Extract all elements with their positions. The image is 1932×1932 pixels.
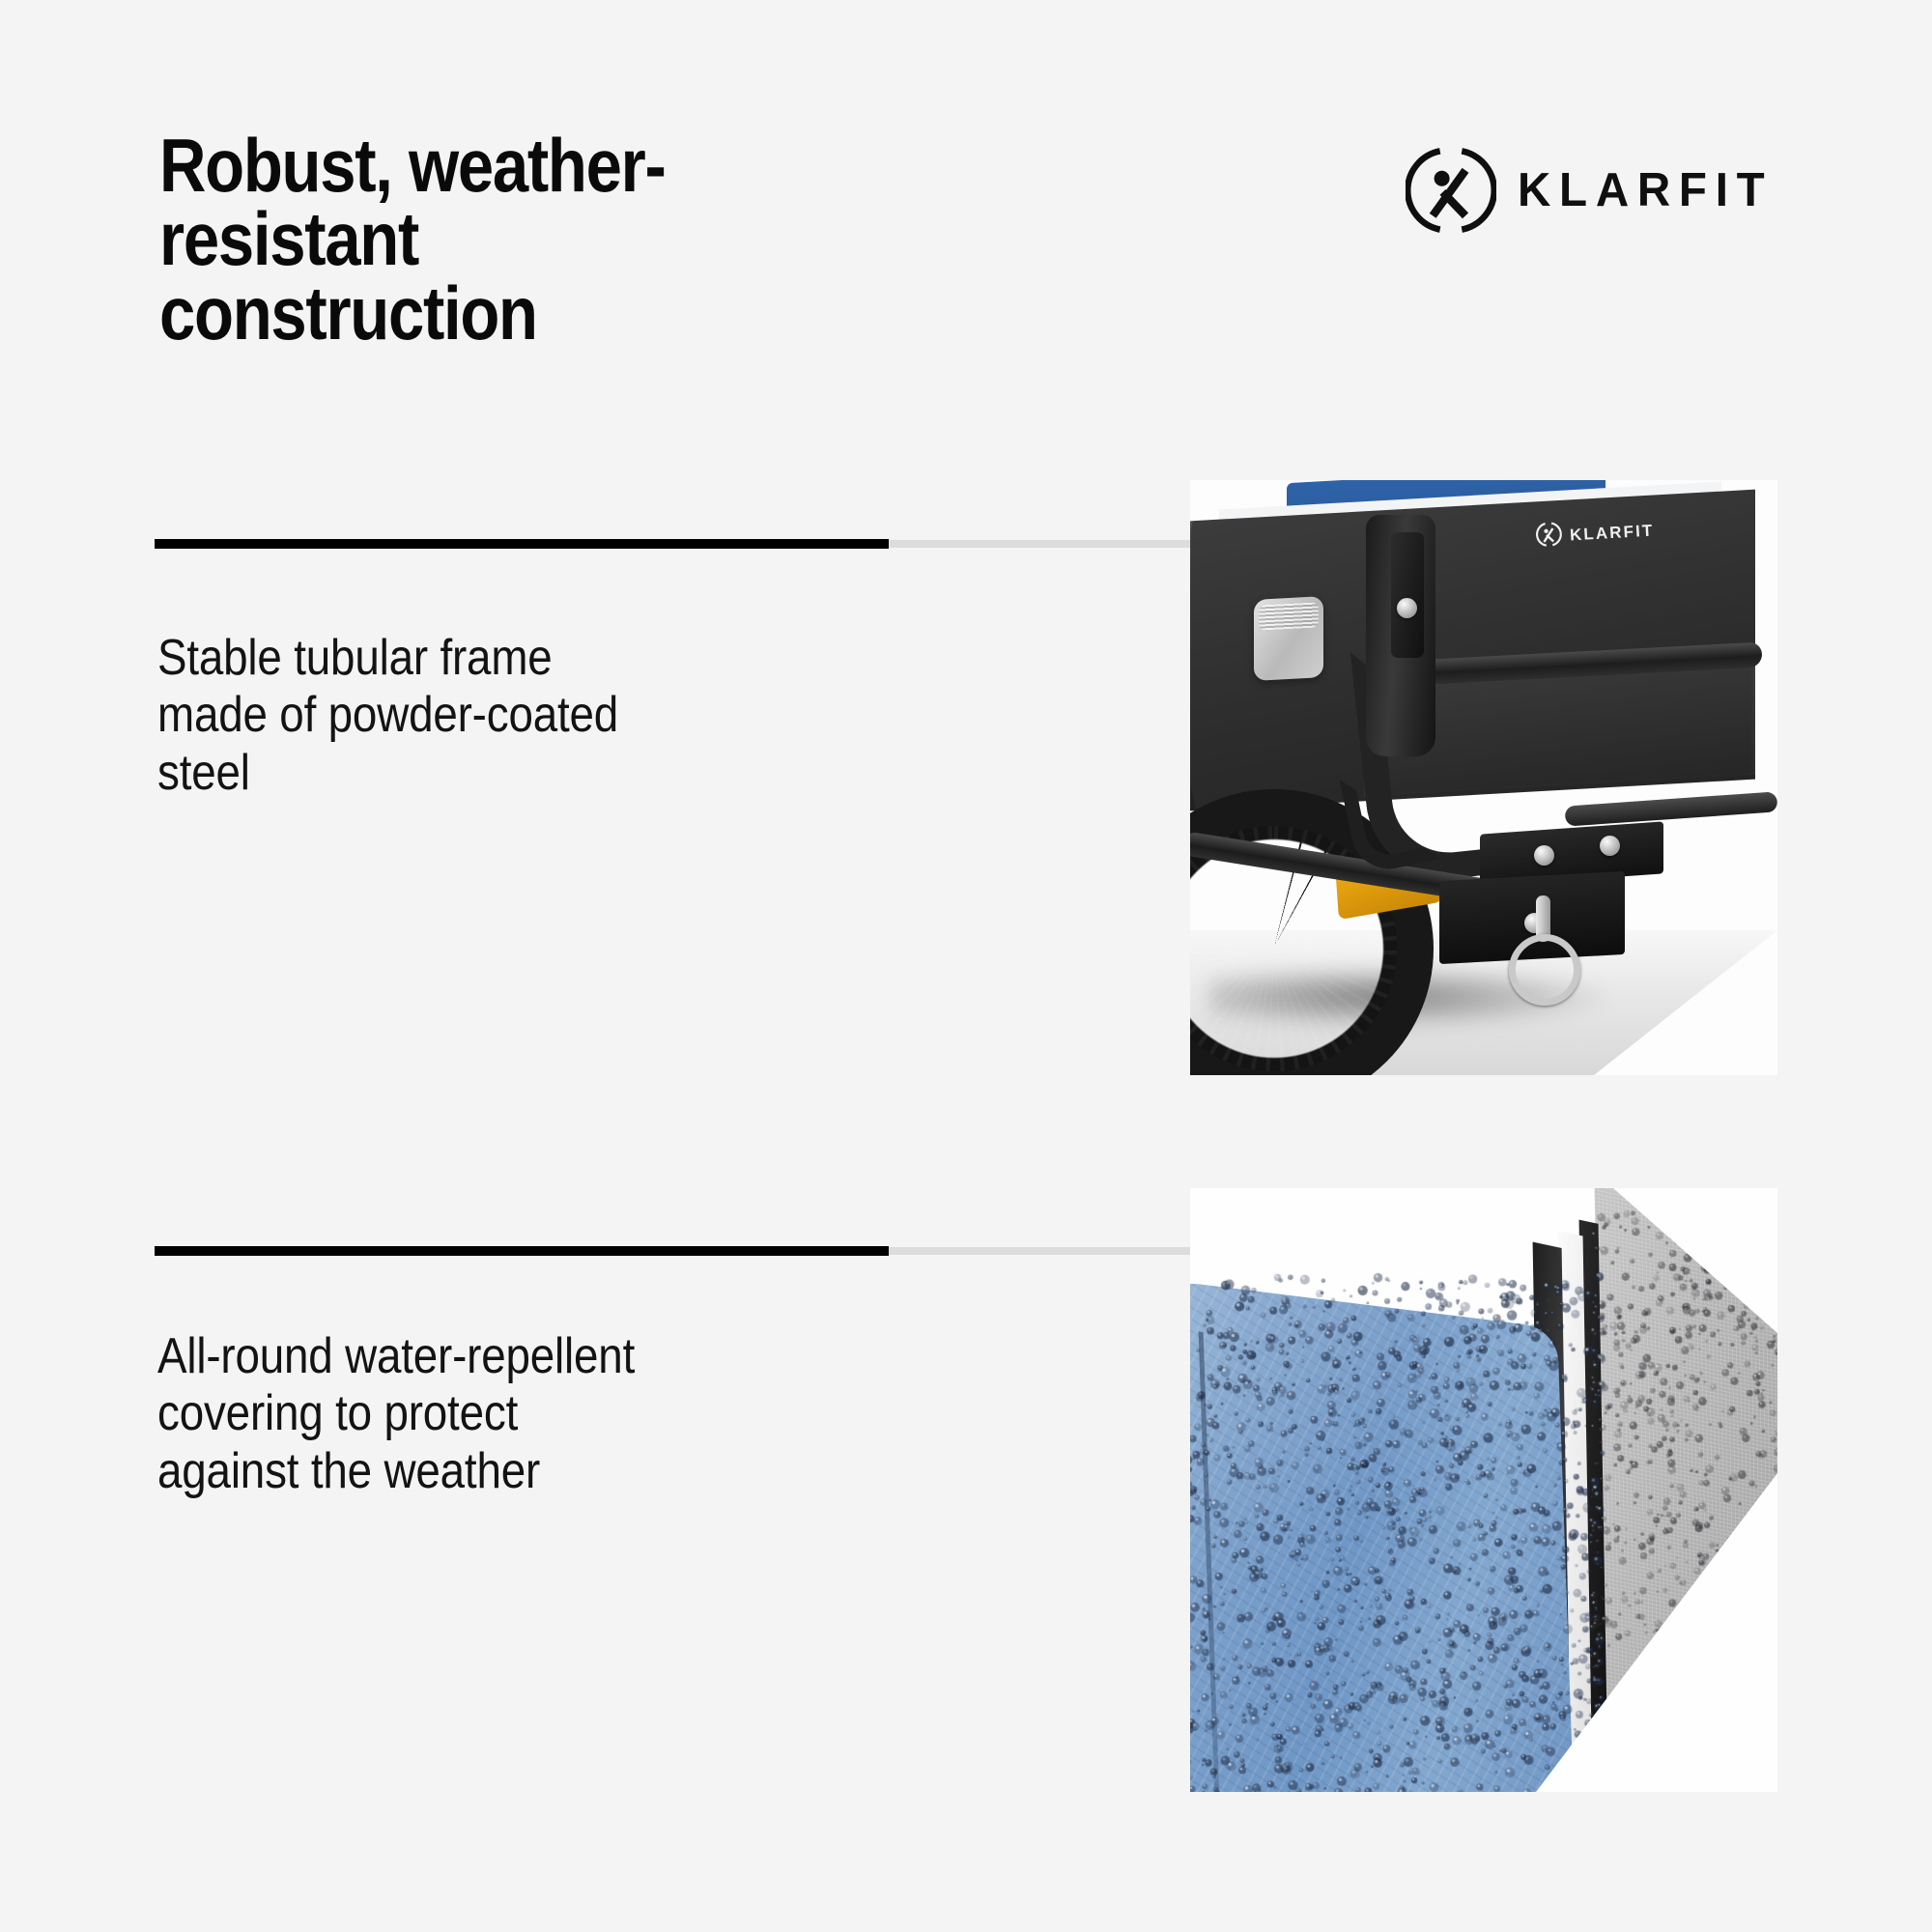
feature-divider-1 xyxy=(155,539,1190,549)
feature-2-line-3: against the weather xyxy=(157,1443,804,1500)
side-reflector xyxy=(1254,596,1323,681)
hinge-bolt xyxy=(1397,598,1417,618)
divider-light-connector xyxy=(889,540,1190,548)
page-title-line-2: resistant xyxy=(159,202,791,275)
feature-2-line-1: All-round water-repellent xyxy=(157,1328,804,1385)
klarfit-circle-x-icon-print xyxy=(1535,521,1563,553)
infographic-page: Robust, weather- resistant construction … xyxy=(0,0,1932,1932)
trailer-hitch-photo: KLARFIT xyxy=(1190,480,1777,1075)
klarfit-circle-x-icon xyxy=(1406,145,1496,236)
hitch-bolt-1 xyxy=(1534,845,1554,866)
feature-1-line-1: Stable tubular frame xyxy=(157,630,804,687)
hitch-bolt-2 xyxy=(1600,836,1620,856)
trailer-brand-text: KLARFIT xyxy=(1569,522,1654,546)
trailer-brand-print: KLARFIT xyxy=(1535,516,1655,554)
feature-divider-2 xyxy=(155,1246,1190,1256)
hitch-split-ring xyxy=(1509,934,1580,1006)
blue-water-repellent-fabric xyxy=(1190,1277,1577,1792)
divider-dark-segment xyxy=(155,1246,889,1256)
brand-logo: KLARFIT xyxy=(1406,145,1781,236)
trailer-hinge-inner xyxy=(1391,532,1424,658)
feature-1-line-2: made of powder-coated xyxy=(157,687,804,744)
brand-wordmark: KLARFIT xyxy=(1518,167,1773,214)
feature-2-line-2: covering to protect xyxy=(157,1385,804,1442)
divider-dark-segment xyxy=(155,539,889,549)
page-title-line-3: construction xyxy=(159,276,791,350)
feature-1-line-3: steel xyxy=(157,745,804,802)
feature-text-2: All-round water-repellent covering to pr… xyxy=(157,1328,804,1500)
page-title-line-1: Robust, weather- xyxy=(159,128,791,202)
water-repellent-fabric-photo xyxy=(1190,1188,1777,1792)
page-title: Robust, weather- resistant construction xyxy=(159,128,791,350)
feature-text-1: Stable tubular frame made of powder-coat… xyxy=(157,630,804,802)
divider-light-connector xyxy=(889,1247,1190,1255)
hitch-bar xyxy=(1565,791,1777,826)
